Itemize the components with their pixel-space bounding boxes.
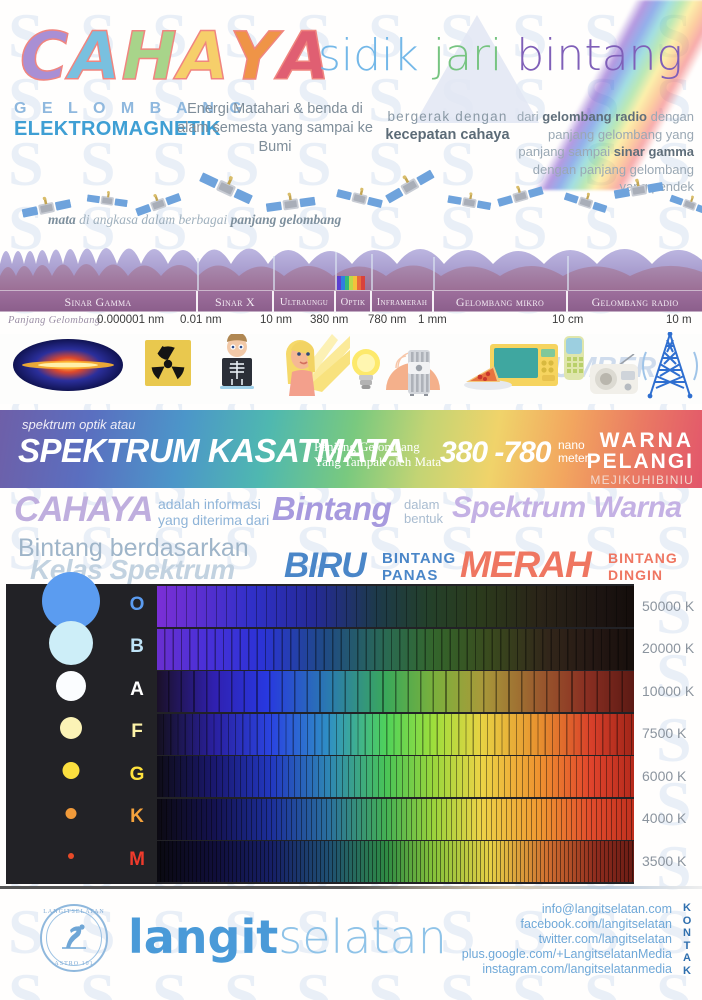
spectrum-band-sinar-gamma: Sinar Gamma (0, 291, 198, 313)
em-spectrum-bar: Sinar GammaSinar XUltraunguOptikInframer… (0, 290, 702, 312)
wavelength-tick-7: 10 m (666, 314, 692, 326)
footer-divider (0, 886, 702, 889)
spectrum-band-gelombang-mikro: Gelombang mikro (434, 291, 568, 313)
absorption-lines-G (157, 756, 634, 797)
absorption-lines-A (157, 671, 634, 712)
vis-subtext-line2: Yang Tampak oleh Mata (314, 454, 441, 469)
tag-adalah-line2: yang diterima dari (158, 512, 269, 528)
kontak-vertical-label: KONTAK (680, 902, 694, 978)
mobile-phone-icon (562, 334, 588, 387)
star-disc-B (49, 621, 93, 665)
title-letter-0: C (20, 18, 69, 96)
spectrum-band-optik: Optik (336, 291, 372, 313)
brand-langit: langit (128, 910, 278, 964)
visible-spectrum-banner: spektrum optik atau SPEKTRUM KASATMATA P… (0, 410, 702, 488)
vis-rainbow-label: WARNA PELANGI MEJIKUHIBINIU (587, 430, 694, 487)
spectrum-band-label: Gelombang mikro (456, 295, 544, 310)
spectral-class-letter-B: B (120, 636, 154, 658)
spectral-class-letter-O: O (120, 594, 154, 616)
vis-pelangi: PELANGI (587, 451, 694, 473)
satellites-caption: mata di angkasa dalam berbagai panjang g… (48, 212, 341, 228)
tag-cahaya: CAHAYA (14, 490, 153, 530)
temperature-label-K: 4000 K (642, 810, 686, 826)
spectrum-band-gelombang-radio: Gelombang radio (568, 291, 702, 313)
langitselatan-seal-logo: LANGITSELATANASTRO 101 (40, 904, 108, 972)
brand-wordmark: langitselatan (128, 910, 447, 964)
subtitle-word-sidik: sidik (318, 30, 433, 81)
optical-rainbow-sliver (337, 276, 365, 290)
spectrum-band-label: Ultraungu (280, 297, 328, 308)
star-disc-M (68, 853, 74, 859)
absorption-lines-M (157, 841, 634, 882)
temperature-label-O: 50000 K (642, 598, 694, 614)
spectral-class-letter-A: A (120, 679, 154, 701)
spectrum-strip-M (157, 841, 634, 882)
spectrum-strip-O (157, 586, 634, 627)
temperature-label-F: 7500 K (642, 725, 686, 741)
footer-section: LANGITSELATANASTRO 101 langitselatan inf… (0, 884, 702, 984)
temperature-label-G: 6000 K (642, 768, 686, 784)
tag-panas-line2: PANAS (382, 567, 456, 584)
sunbathing-woman-icon (272, 334, 350, 401)
vis-mejikuhibiniu: MEJIKUHIBINIU (587, 473, 694, 487)
star-disc-K (65, 808, 76, 819)
spectrum-strip-B (157, 629, 634, 670)
subtitle-word-bintang: bintang (516, 30, 683, 81)
space-telescope-icon-9 (560, 186, 609, 223)
brand-selatan: selatan (278, 910, 447, 964)
spectrum-strip-F (157, 714, 634, 755)
page-subtitle: sidik jari bintang (318, 30, 683, 81)
tag-dalam-bentuk: dalam bentuk (404, 498, 443, 526)
space-telescope-icon-11 (666, 189, 702, 225)
contact-line-1[interactable]: facebook.com/langitselatan (462, 917, 672, 932)
kontak-letter: A (680, 952, 694, 965)
title-letter-2: H (122, 18, 178, 96)
vis-unit: nano meter (558, 439, 589, 465)
spectrum-band-label: Sinar X (215, 295, 255, 310)
contact-list: info@langitselatan.comfacebook.com/langi… (462, 902, 672, 977)
contact-line-0[interactable]: info@langitselatan.com (462, 902, 672, 917)
temperature-label-A: 10000 K (642, 683, 694, 699)
spectrum-strip-K (157, 799, 634, 840)
star-disc-G (62, 762, 79, 779)
radioactive-sign-icon (145, 340, 191, 391)
radiator-heater-icon (382, 338, 444, 401)
title-letter-1: A (69, 18, 121, 96)
spectral-class-letter-K: K (120, 806, 154, 828)
spectrum-band-ultraungu: Ultraungu (274, 291, 336, 313)
wavelength-tick-1: 0.01 nm (180, 314, 222, 326)
tag-bintang-dingin: BINTANG DINGIN (608, 550, 678, 584)
vis-unit-line2: meter (558, 452, 589, 465)
infographic-page: SSSSSSSSSSSSSSSSSSSSSSSSSSSSSSSSSSSSSSSS… (0, 0, 702, 1000)
spectrum-band-label: Sinar Gamma (65, 295, 132, 310)
space-telescope-icon-10 (612, 174, 665, 210)
wave-svg (0, 230, 702, 290)
space-telescope-icon-3 (193, 165, 256, 217)
title-letter-3: A (178, 18, 230, 96)
spectrum-strip-G (157, 756, 634, 797)
absorption-lines-F (157, 714, 634, 755)
wavelength-scale: Panjang Gelombang 0.000001 nm0.01 nm10 n… (0, 312, 702, 334)
space-telescope-icon-7 (445, 189, 492, 221)
wavelength-axis-label: Panjang Gelombang (8, 315, 100, 326)
tag-merah: MERAH (460, 544, 591, 586)
kontak-letter: T (680, 940, 694, 953)
wavelength-tick-0: 0.000001 nm (97, 314, 164, 326)
spectrum-band-label: Gelombang radio (592, 295, 679, 310)
vis-subtext-line1: Panjang Gelombang (314, 439, 441, 454)
space-telescope-icon-8 (495, 179, 547, 217)
spectrum-band-sinar-x: Sinar X (198, 291, 274, 313)
wave-mountains-graphic (0, 230, 702, 290)
wavelength-tick-4: 780 nm (368, 314, 406, 326)
radio-receiver-icon (588, 354, 642, 401)
wavelength-tick-2: 10 nm (260, 314, 292, 326)
microwave-pizza-icon (464, 344, 560, 397)
star-disc-F (60, 717, 82, 739)
spectral-class-letter-M: M (120, 849, 154, 871)
light-bulb-icon (348, 346, 384, 395)
tag-spektrum-warna: Spektrum Warna (452, 491, 681, 525)
kontak-letter: K (680, 965, 694, 978)
vis-kicker: spektrum optik atau (22, 417, 135, 432)
speed-bold: kecepatan cahaya (385, 126, 510, 144)
tag-panas-line1: BINTANG (382, 550, 456, 567)
tag-bintang-panas: BINTANG PANAS (382, 550, 456, 584)
kontak-letter: O (680, 915, 694, 928)
header-section: CAHAYA sidik jari bintang G E L O M B A … (0, 0, 702, 230)
xray-child-icon (214, 334, 260, 399)
tag-bintang: Bintang (272, 490, 391, 528)
kontak-letter: K (680, 902, 694, 915)
gamma-sky-map-icon (12, 338, 124, 397)
contact-line-3[interactable]: plus.google.com/+LangitselatanMedia (462, 947, 672, 962)
tag-adalah-informasi: adalah informasi yang diterima dari (158, 496, 269, 528)
subtitle-word-jari: jari (433, 30, 517, 81)
tag-biru: BIRU (284, 546, 366, 586)
spectral-class-letter-G: G (120, 764, 154, 786)
wavelength-tick-6: 10 cm (552, 314, 583, 326)
absorption-lines-B (157, 629, 634, 670)
absorption-lines-K (157, 799, 634, 840)
header-col-speed: bergerak dengan kecepatan cahaya (385, 108, 510, 144)
title-letter-4: Y (230, 18, 279, 96)
contact-line-2[interactable]: twitter.com/langitselatan (462, 932, 672, 947)
spectrum-band-label: Optik (341, 297, 366, 308)
spectrum-band-label: Inframerah (377, 297, 427, 308)
kontak-letter: N (680, 927, 694, 940)
speed-plain: bergerak dengan (385, 108, 510, 126)
vis-subtext: Panjang Gelombang Yang Tampak oleh Mata (314, 439, 441, 469)
tag-dingin-line2: DINGIN (608, 567, 678, 584)
tagline-section: CAHAYA adalah informasi yang diterima da… (0, 488, 702, 580)
seal-text: LANGITSELATANASTRO 101 (42, 906, 106, 970)
spectrum-band-inframerah: Inframerah (372, 291, 434, 313)
star-disc-A (56, 671, 86, 701)
contact-line-4[interactable]: instagram.com/langitselatanmedia (462, 962, 672, 977)
absorption-lines-O (157, 586, 634, 627)
tag-bentuk: bentuk (404, 512, 443, 526)
temperature-label-M: 3500 K (642, 853, 686, 869)
wavelength-tick-3: 380 nm (310, 314, 348, 326)
stellar-spectral-class-chart: O50000 KB20000 KA10000 KF7500 KG6000 KK4… (0, 584, 702, 884)
em-sources-row: SUMBER (0, 334, 702, 404)
temperature-label-B: 20000 K (642, 640, 694, 656)
tag-adalah-line1: adalah informasi (158, 496, 269, 512)
radio-tower-icon (640, 332, 700, 405)
tag-dingin-line1: BINTANG (608, 550, 678, 567)
header-col-energy: Energi Matahari & benda di alam semesta … (175, 100, 375, 157)
spectrum-strip-A (157, 671, 634, 712)
vis-warna: WARNA (587, 430, 694, 451)
space-telescope-icon-6 (381, 163, 441, 215)
spectral-class-letter-F: F (120, 721, 154, 743)
tag-dalam: dalam (404, 498, 443, 512)
vis-range-value: 380 -780 (440, 436, 550, 470)
wavelength-tick-5: 1 mm (418, 314, 447, 326)
